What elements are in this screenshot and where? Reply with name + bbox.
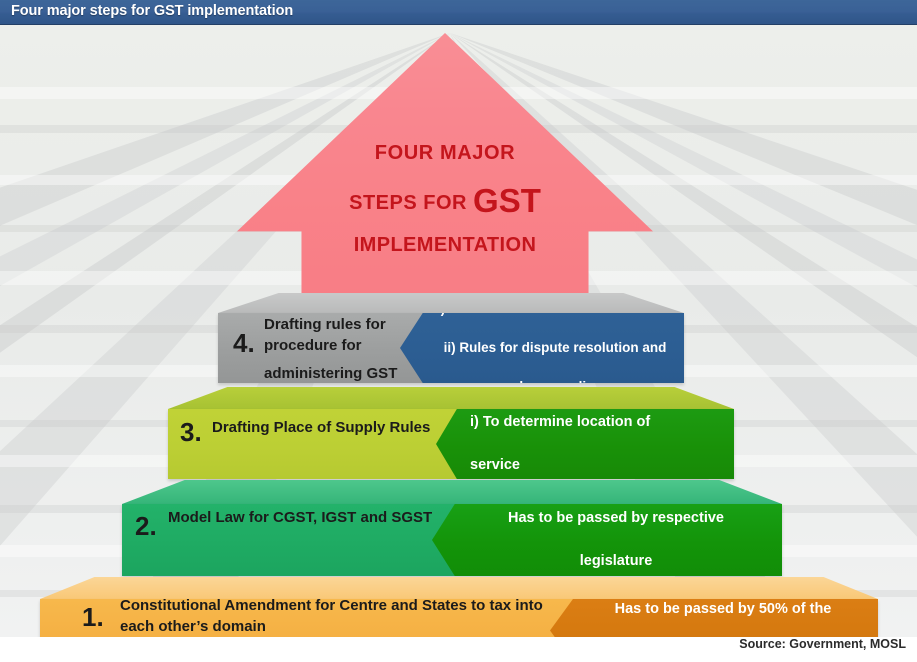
step-4-callout-line-2: ii) Rules for dispute resolution and: [436, 338, 674, 358]
step-4-tier[interactable]: 4. Drafting rules for procedure for i) T…: [218, 293, 684, 383]
step-1-callout: Has to be passed by 50% of the States in…: [550, 599, 878, 637]
arrow-line-2-prefix: STEPS FOR: [349, 192, 473, 214]
step-2-callout: Has to be passed by respective legislatu…: [432, 504, 782, 576]
arrow-line-1: FOUR MAJOR: [237, 143, 653, 163]
source-note: Source: Government, MOSL: [739, 637, 906, 651]
step-2-callout-text: Has to be passed by respective legislatu…: [466, 508, 766, 571]
step-1-label: Constitutional Amendment for Centre and …: [120, 595, 560, 637]
step-4-top-face: [218, 293, 684, 313]
page-title: Four major steps for GST implementation: [11, 3, 293, 19]
step-3-callout: i) To determine location of service: [436, 409, 734, 479]
step-1-tier[interactable]: 1. Constitutional Amendment for Centre a…: [40, 577, 878, 637]
arrow-caption: FOUR MAJOR STEPS FOR GST IMPLEMENTATION: [237, 143, 653, 255]
step-3-tier[interactable]: 3. Drafting Place of Supply Rules i) To …: [168, 387, 734, 479]
step-4-callout-text: i) To be done at both Centre & States ii…: [436, 299, 674, 397]
step-3-label: Drafting Place of Supply Rules: [212, 417, 474, 438]
step-2-label: Model Law for CGST, IGST and SGST: [168, 507, 458, 528]
diagram-background: FOUR MAJOR STEPS FOR GST IMPLEMENTATION …: [0, 25, 917, 637]
step-2-tier[interactable]: 2. Model Law for CGST, IGST and SGST Has…: [122, 480, 782, 576]
slide-title-bar: Four major steps for GST implementation: [0, 0, 917, 25]
step-2-callout-line-1: Has to be passed by respective: [466, 508, 766, 529]
arrow-line-3: IMPLEMENTATION: [237, 235, 653, 255]
step-3-callout-text: i) To determine location of service: [470, 412, 720, 475]
step-4-label: Drafting rules for procedure for: [264, 314, 404, 357]
step-3-top-face: [168, 387, 734, 409]
step-1-callout-text: Has to be passed by 50% of the States in…: [580, 599, 866, 637]
step-3-callout-line-1: i) To determine location of: [470, 412, 720, 433]
step-3-number: 3.: [180, 419, 202, 445]
step-2-callout-line-2: legislature: [466, 551, 766, 572]
step-2-top-face: [122, 480, 782, 504]
arrow-line-2: STEPS FOR GST: [237, 184, 653, 217]
step-1-number: 1.: [82, 604, 104, 630]
step-1-callout-line-1: Has to be passed by 50% of the: [580, 599, 866, 620]
step-4-callout: i) To be done at both Centre & States ii…: [400, 313, 684, 383]
step-4-number: 4.: [233, 330, 255, 356]
step-2-number: 2.: [135, 513, 157, 539]
step-3-callout-line-2: service: [470, 455, 720, 476]
arrow-gst-emphasis: GST: [473, 182, 541, 219]
slide-canvas: Four major steps for GST implementation: [0, 0, 917, 662]
